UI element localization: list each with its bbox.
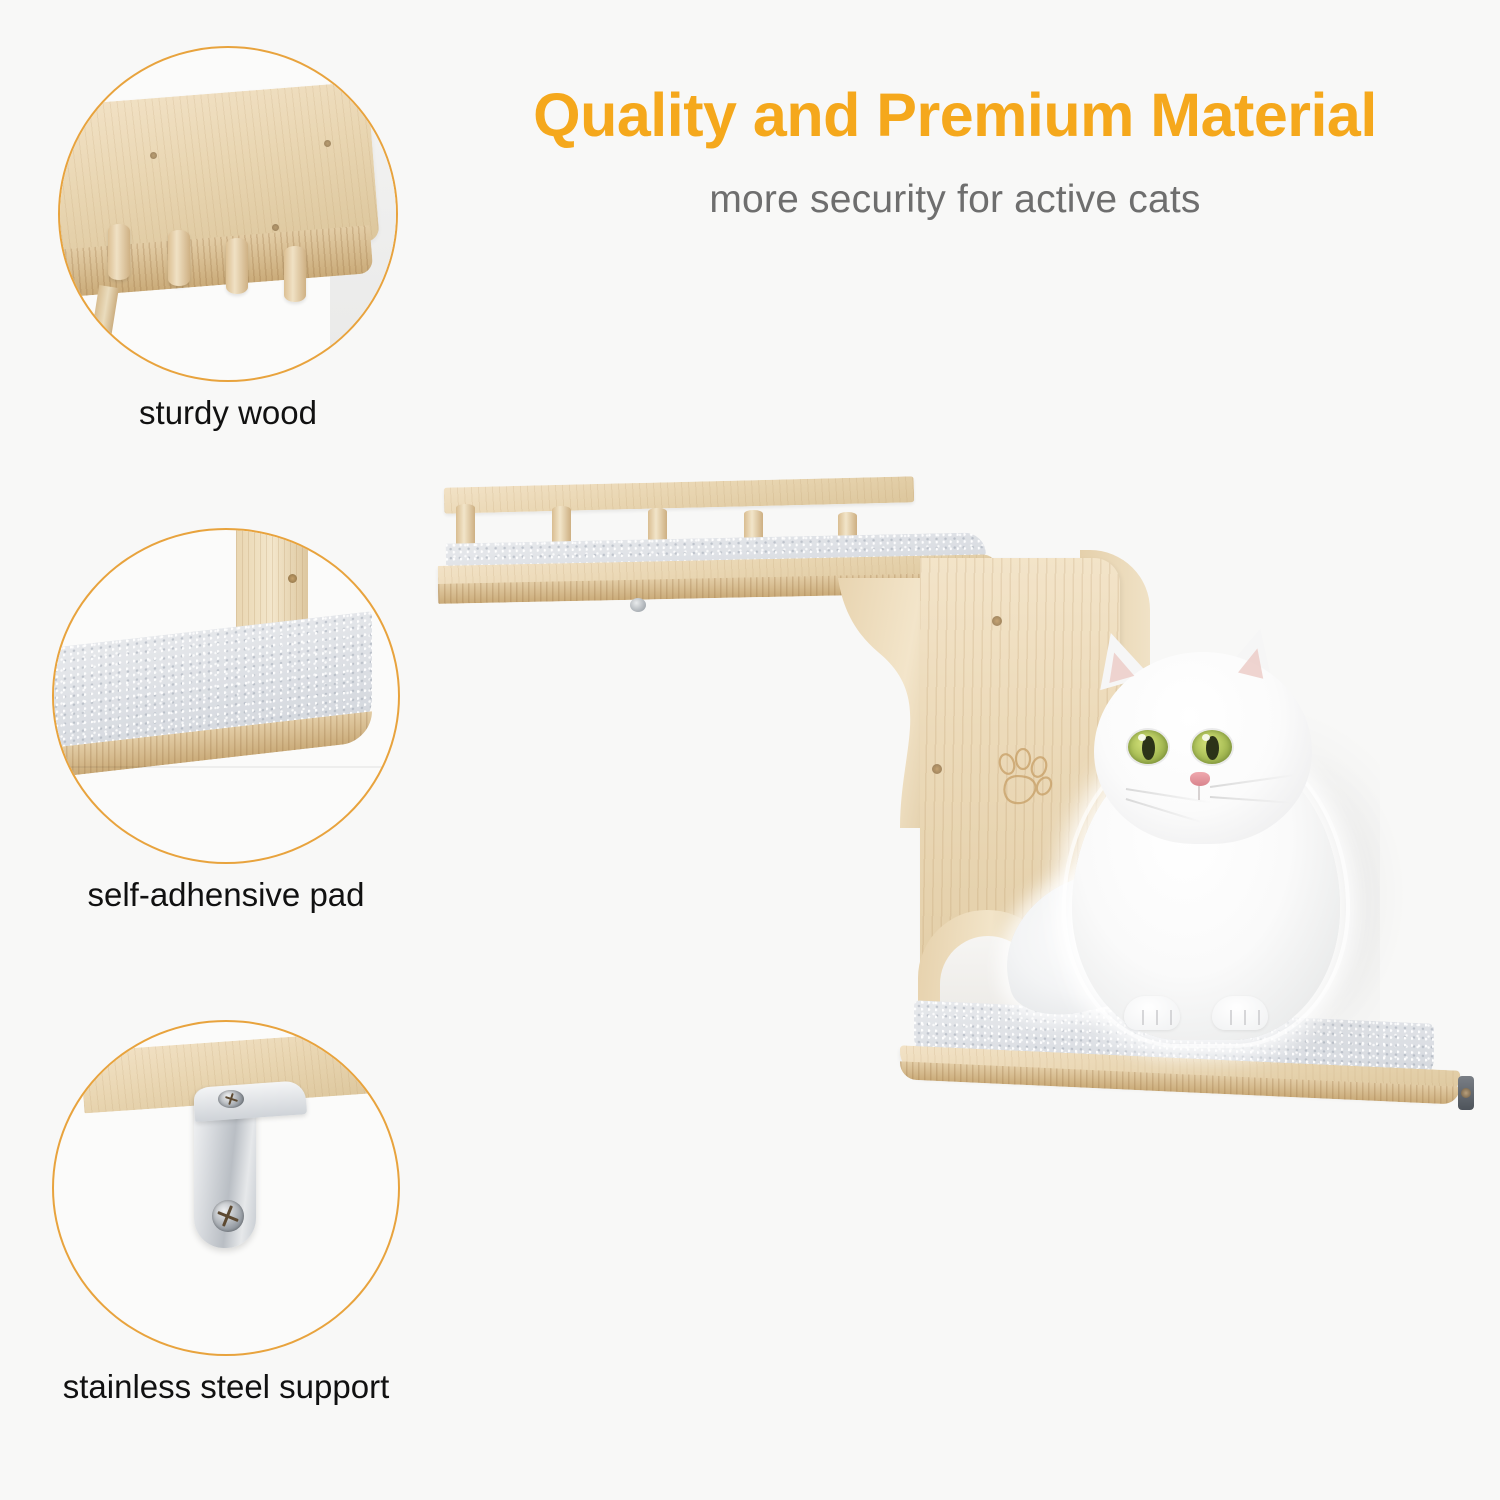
railing-top-rail [444,476,914,513]
feature-caption-bracket: stainless steel support [52,1368,400,1406]
screw-icon [1461,1088,1471,1098]
screw-icon [288,574,297,583]
feature-caption-sturdy-wood: sturdy wood [58,394,398,432]
dowel-peg-icon [284,246,306,302]
screw-icon [992,616,1002,626]
feature-self-adhensive-pad: self-adhensive pad [52,528,400,914]
page-subtitle: more security for active cats [460,178,1450,222]
heading-block: Quality and Premium Material more securi… [460,80,1450,222]
cat-mouth [1198,786,1200,800]
feature-image-circle-pad [52,528,400,864]
dowel-peg-icon [168,230,190,286]
screw-icon [218,1090,244,1108]
screw-icon [212,1200,244,1232]
dowel-peg-icon [226,238,248,294]
feature-stainless-steel-support: stainless steel support [52,1020,400,1406]
steel-bracket-icon [630,598,646,612]
cat [1020,630,1400,1050]
cat-paw-right [1212,996,1268,1030]
page-title: Quality and Premium Material [460,80,1450,150]
cat-nose [1190,772,1210,786]
screw-icon [324,140,331,147]
cat-eye-glint-left [1138,734,1146,741]
feature-image-circle-bracket [52,1020,400,1356]
screw-icon [932,764,942,774]
screw-icon [272,224,279,231]
dowel-peg-icon [108,224,130,280]
support-leg [85,285,119,377]
screw-icon [150,152,157,159]
wall-baseboard-line [54,766,400,768]
cat-paw-left [1124,996,1180,1030]
feature-caption-pad: self-adhensive pad [52,876,400,914]
steel-bracket-flange [193,1080,307,1122]
feature-image-circle-sturdy-wood [58,46,398,382]
cat-eye-glint-right [1202,734,1210,741]
product-photo [420,430,1500,1190]
feature-sturdy-wood: sturdy wood [58,46,398,432]
